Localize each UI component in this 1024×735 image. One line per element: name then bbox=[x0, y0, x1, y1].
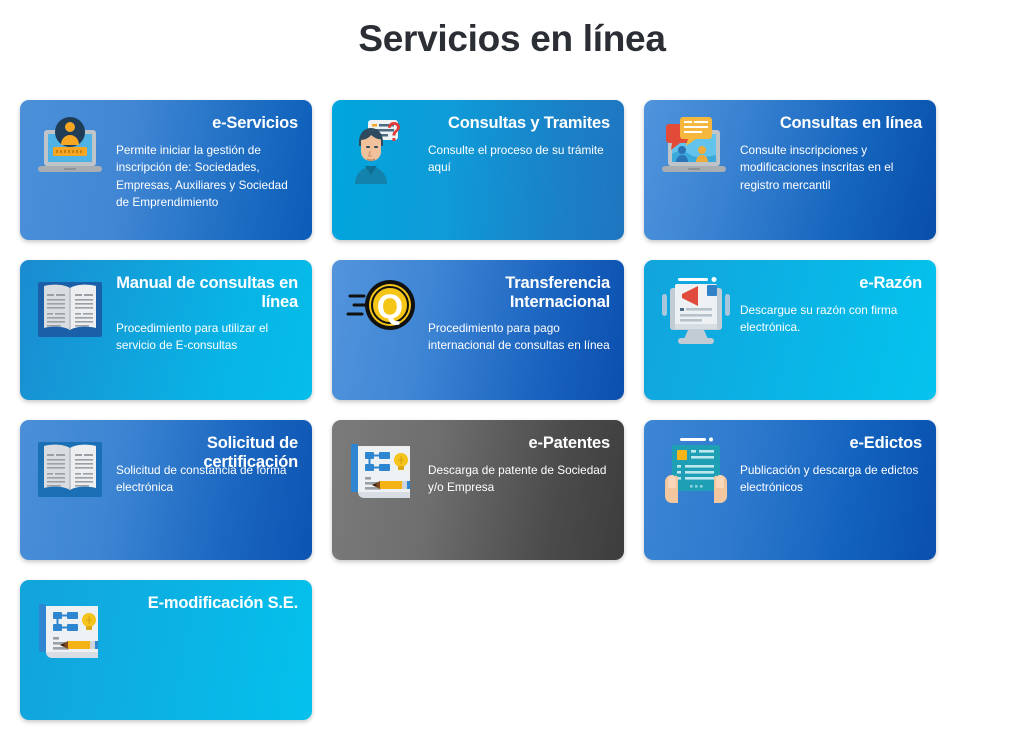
card-body: Consultas y Tramites Consulte el proceso… bbox=[332, 100, 624, 240]
card-description: Procedimiento para pago internacional de… bbox=[428, 320, 612, 355]
open-book-icon bbox=[34, 432, 110, 512]
card-description: Solicitud de constancia de forma electró… bbox=[116, 462, 300, 497]
hands-holding-document-icon bbox=[658, 432, 734, 512]
card-title: E-modificación S.E. bbox=[116, 594, 298, 613]
card-description: Descargue su razón con firma electrónica… bbox=[740, 302, 924, 337]
services-grid: e-Servicios Permite iniciar la gestión d… bbox=[20, 100, 1004, 720]
card-description: Permite iniciar la gestión de inscripció… bbox=[116, 142, 300, 212]
card-body: e-Edictos Publicación y descarga de edic… bbox=[644, 420, 936, 560]
service-card-e-servicios[interactable]: e-Servicios Permite iniciar la gestión d… bbox=[20, 100, 312, 240]
service-card-e-edictos[interactable]: e-Edictos Publicación y descarga de edic… bbox=[644, 420, 936, 560]
quetzal-coin-icon: Q bbox=[346, 272, 422, 352]
service-card-e-razon[interactable]: e-Razón Descargue su razón con firma ele… bbox=[644, 260, 936, 400]
person-question-chat-icon bbox=[346, 112, 422, 192]
card-title: Manual de consultas en línea bbox=[116, 274, 298, 312]
card-title: e-Edictos bbox=[740, 434, 922, 453]
service-card-consultas-en-linea[interactable]: Consultas en línea Consulte inscripcione… bbox=[644, 100, 936, 240]
card-description: Descarga de patente de Sociedad y/o Empr… bbox=[428, 462, 612, 497]
card-title: Consultas y Tramites bbox=[428, 114, 610, 133]
service-card-e-modificacion-se[interactable]: E-modificación S.E. bbox=[20, 580, 312, 720]
monitor-megaphone-icon bbox=[658, 272, 734, 352]
card-title: Consultas en línea bbox=[740, 114, 922, 133]
card-description: Consulte inscripciones y modificaciones … bbox=[740, 142, 924, 194]
card-body: E-modificación S.E. bbox=[20, 580, 312, 720]
card-description: Procedimiento para utilizar el servicio … bbox=[116, 320, 300, 355]
card-body: Manual de consultas en línea Procedimien… bbox=[20, 260, 312, 400]
card-body: e-Patentes Descarga de patente de Socied… bbox=[332, 420, 624, 560]
service-card-manual-de-consultas-en-linea[interactable]: Manual de consultas en línea Procedimien… bbox=[20, 260, 312, 400]
card-body: Q Transferencia Internacional Procedimie… bbox=[332, 260, 624, 400]
card-body: e-Razón Descargue su razón con firma ele… bbox=[644, 260, 936, 400]
laptop-chat-bubbles-icon bbox=[658, 112, 734, 192]
service-card-transferencia-internacional[interactable]: Q Transferencia Internacional Procedimie… bbox=[332, 260, 624, 400]
card-title: e-Razón bbox=[740, 274, 922, 293]
service-card-e-patentes[interactable]: e-Patentes Descarga de patente de Socied… bbox=[332, 420, 624, 560]
card-description: Publicación y descarga de edictos electr… bbox=[740, 462, 924, 497]
blueprint-lightbulb-pencil-icon bbox=[34, 592, 110, 672]
laptop-user-login-icon bbox=[34, 112, 110, 192]
blueprint-lightbulb-pencil-icon bbox=[346, 432, 422, 512]
card-title: Transferencia Internacional bbox=[428, 274, 610, 312]
open-book-icon bbox=[34, 272, 110, 352]
service-card-solicitud-de-certificacion[interactable]: Solicitud de certificación Solicitud de … bbox=[20, 420, 312, 560]
card-body: e-Servicios Permite iniciar la gestión d… bbox=[20, 100, 312, 240]
card-body: Consultas en línea Consulte inscripcione… bbox=[644, 100, 936, 240]
card-title: e-Servicios bbox=[116, 114, 298, 133]
page-title: Servicios en línea bbox=[0, 0, 1024, 61]
card-description: Consulte el proceso de su trámite aquí bbox=[428, 142, 612, 177]
card-body: Solicitud de certificación Solicitud de … bbox=[20, 420, 312, 560]
card-title: e-Patentes bbox=[428, 434, 610, 453]
svg-text:Q: Q bbox=[377, 288, 403, 326]
services-page: Servicios en línea bbox=[0, 0, 1024, 735]
service-card-consultas-y-tramites[interactable]: Consultas y Tramites Consulte el proceso… bbox=[332, 100, 624, 240]
